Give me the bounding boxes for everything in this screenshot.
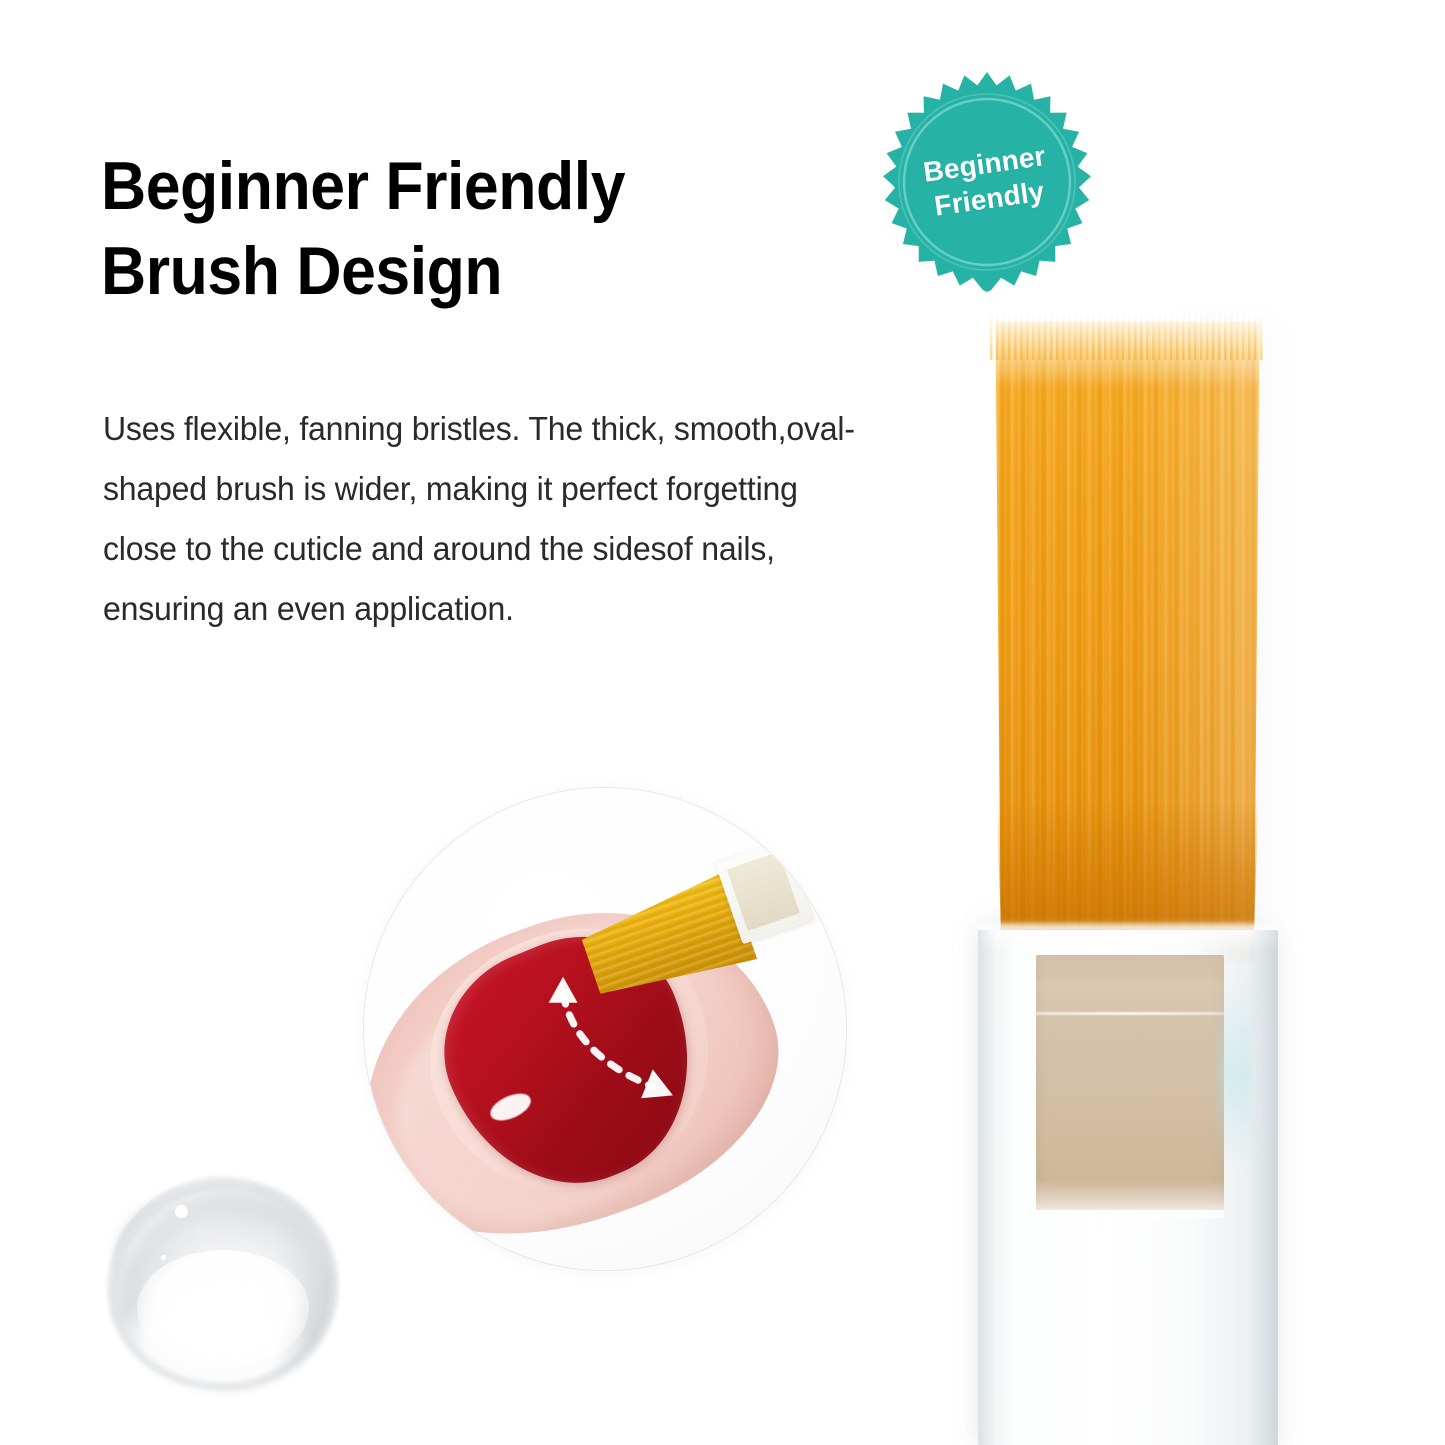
- brush-handle-top-highlight: [978, 924, 1278, 950]
- brush-handle-core-seam: [1036, 1012, 1224, 1015]
- water-droplet-decoration: [104, 1174, 342, 1398]
- beginner-friendly-badge: Beginner Friendly: [879, 66, 1095, 298]
- page-title-line-1: Beginner Friendly: [101, 148, 625, 224]
- brush-handle-left-edge: [978, 930, 996, 1445]
- brush-handle-right-edge: [1248, 930, 1278, 1445]
- brush-handle-blue-tint: [1218, 980, 1252, 1170]
- brush-stroke-direction-arrow-icon: [538, 971, 692, 1116]
- brush-handle-inner-core: [1036, 955, 1224, 1210]
- page-title: Beginner Friendly Brush Design: [101, 144, 800, 315]
- nail-application-inset: [364, 788, 846, 1270]
- product-infographic-canvas: Beginner Friendly Brush Design Uses flex…: [0, 0, 1445, 1445]
- starburst-seal-icon: [879, 66, 1095, 298]
- brush-bristle-tips: [990, 314, 1265, 360]
- brush-handle-core-fade: [1036, 1180, 1224, 1218]
- description-paragraph: Uses flexible, fanning bristles. The thi…: [103, 399, 879, 639]
- page-title-line-2: Brush Design: [101, 229, 800, 315]
- nail-brush-product-image: [930, 300, 1350, 1445]
